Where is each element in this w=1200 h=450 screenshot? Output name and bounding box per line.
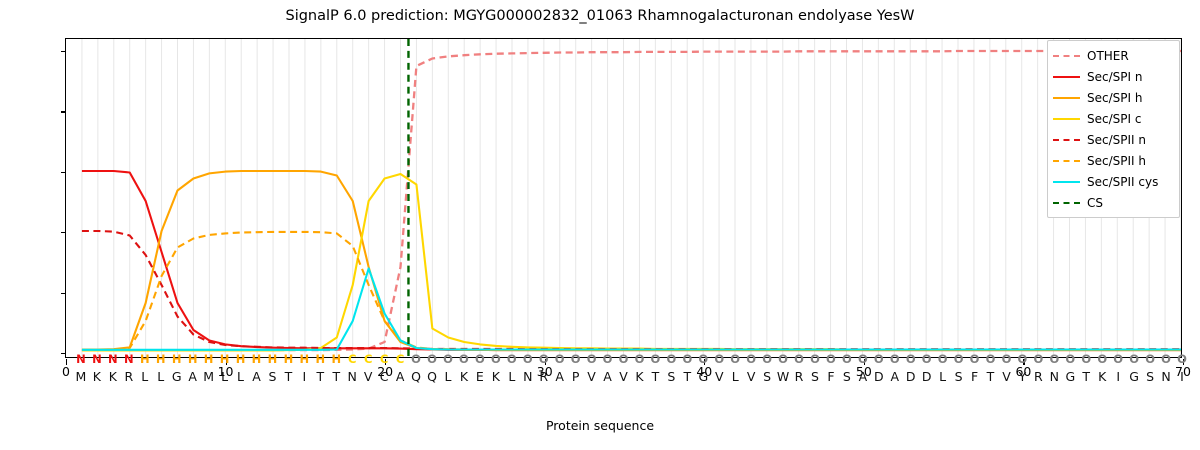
sequence-residue: N <box>348 369 357 384</box>
legend-item-cs[interactable]: CS <box>1053 192 1174 213</box>
region-annotation-cell: O <box>1049 352 1059 366</box>
region-annotation-cell: N <box>92 352 102 366</box>
region-annotation-cell: H <box>204 352 214 366</box>
sequence-residue: L <box>237 369 244 384</box>
region-annotation-cell: O <box>1145 352 1155 366</box>
legend-swatch-sec-spii-n <box>1053 135 1080 145</box>
sequence-residue: T <box>652 369 660 384</box>
sequence-residue: L <box>732 369 739 384</box>
sequence-residue: K <box>635 369 643 384</box>
sequence-residue: S <box>811 369 819 384</box>
sequence-residue: W <box>777 369 789 384</box>
legend-swatch-sec-spii-cys <box>1053 177 1080 187</box>
legend-swatch-other <box>1053 51 1080 61</box>
sequence-residue: F <box>971 369 978 384</box>
region-annotation-cell: H <box>268 352 278 366</box>
region-annotation-cell: O <box>922 352 932 366</box>
sequence-residue: Y <box>1019 369 1027 384</box>
region-annotation-cell: O <box>1129 352 1139 366</box>
sequence-residue: L <box>221 369 228 384</box>
legend-swatch-sec-spii-h <box>1053 156 1080 166</box>
sequence-residue: L <box>444 369 451 384</box>
series-other <box>82 51 1181 350</box>
sequence-residue: M <box>203 369 214 384</box>
region-annotation-cell: H <box>156 352 166 366</box>
sequence-residue: G <box>172 369 182 384</box>
sequence-residue: D <box>922 369 932 384</box>
region-annotation-cell: O <box>858 352 868 366</box>
region-annotation-cell: O <box>682 352 692 366</box>
region-annotation-cell: O <box>491 352 501 366</box>
legend-label-sec-spii-h: Sec/SPII h <box>1087 154 1146 168</box>
protein-sequence-row: MKKRLLGAMLLASTITTNVCAQQLKEKLNRAPVAVKTSTG… <box>65 369 1182 384</box>
region-annotation-cell: O <box>507 352 517 366</box>
sequence-residue: V <box>364 369 373 384</box>
signalp-prediction-figure: SignalP 6.0 prediction: MGYG000002832_01… <box>0 0 1200 450</box>
series-sec-spii-n <box>82 231 1181 349</box>
region-annotation-cell: O <box>938 352 948 366</box>
region-annotation-cell: C <box>396 352 404 366</box>
region-annotation-cell: O <box>475 352 485 366</box>
sequence-residue: A <box>555 369 564 384</box>
series-sec-spii-h <box>82 232 1181 350</box>
region-annotation-cell: O <box>890 352 900 366</box>
sequence-residue: C <box>380 369 389 384</box>
sequence-residue: T <box>987 369 995 384</box>
region-annotation-cell: O <box>1018 352 1028 366</box>
legend-label-sec-spi-c: Sec/SPI c <box>1087 112 1141 126</box>
legend-item-sec-spi-n[interactable]: Sec/SPI n <box>1053 66 1174 87</box>
series-sec-spi-h <box>82 171 1181 350</box>
region-annotation-cell: H <box>220 352 230 366</box>
sequence-residue: M <box>76 369 87 384</box>
sequence-residue: I <box>1180 369 1184 384</box>
region-annotation-cell: O <box>411 352 421 366</box>
sequence-residue: S <box>763 369 771 384</box>
sequence-residue: V <box>747 369 756 384</box>
region-annotation-cell: N <box>76 352 86 366</box>
region-annotation-cell: O <box>635 352 645 366</box>
legend-item-sec-spi-h[interactable]: Sec/SPI h <box>1053 87 1174 108</box>
legend-label-sec-spi-n: Sec/SPI n <box>1087 70 1142 84</box>
legend-label-cs: CS <box>1087 196 1103 210</box>
y-tick-mark <box>61 172 67 173</box>
legend-item-other[interactable]: OTHER <box>1053 45 1174 66</box>
legend-item-sec-spii-n[interactable]: Sec/SPII n <box>1053 129 1174 150</box>
sequence-residue: T <box>1082 369 1090 384</box>
series-sec-spi-c <box>82 174 1181 350</box>
sequence-residue: G <box>698 369 708 384</box>
legend-swatch-cs <box>1053 198 1080 208</box>
region-annotation-cell: O <box>1002 352 1012 366</box>
sequence-residue: T <box>684 369 692 384</box>
legend[interactable]: OTHER Sec/SPI n Sec/SPI h Sec/SPI c Sec/… <box>1047 40 1180 218</box>
legend-label-sec-spii-cys: Sec/SPII cys <box>1087 175 1158 189</box>
region-annotation-cell: C <box>364 352 372 366</box>
region-annotation-cell: O <box>587 352 597 366</box>
region-annotation-cell: O <box>842 352 852 366</box>
sequence-residue: A <box>188 369 197 384</box>
sequence-residue: V <box>1002 369 1011 384</box>
y-tick-mark <box>61 51 67 52</box>
series-curves <box>66 39 1181 357</box>
sequence-residue: E <box>476 369 484 384</box>
region-annotation-cell: O <box>539 352 549 366</box>
region-annotation-cell: O <box>698 352 708 366</box>
sequence-residue: R <box>1034 369 1043 384</box>
region-annotation-cell: O <box>555 352 565 366</box>
region-annotation-row: NNNNHHHHHHHHHHHHHCCCCOOOOOOOOOOOOOOOOOOO… <box>65 352 1182 367</box>
sequence-residue: I <box>303 369 307 384</box>
plot-area: 0.00.20.40.60.81.0 010203040506070 <box>65 38 1182 358</box>
sequence-residue: S <box>667 369 675 384</box>
sequence-residue: T <box>285 369 293 384</box>
sequence-residue: I <box>1116 369 1120 384</box>
sequence-residue: A <box>396 369 405 384</box>
sequence-residue: T <box>316 369 324 384</box>
region-annotation-cell: O <box>810 352 820 366</box>
sequence-residue: S <box>955 369 963 384</box>
legend-swatch-sec-spi-c <box>1053 114 1080 124</box>
sequence-residue: L <box>939 369 946 384</box>
region-annotation-cell: O <box>1033 352 1043 366</box>
sequence-residue: N <box>523 369 532 384</box>
sequence-residue: K <box>492 369 500 384</box>
region-annotation-cell: O <box>571 352 581 366</box>
sequence-residue: K <box>109 369 117 384</box>
sequence-residue: Q <box>427 369 437 384</box>
legend-swatch-sec-spi-n <box>1053 72 1080 82</box>
region-annotation-cell: O <box>443 352 453 366</box>
region-annotation-cell: O <box>523 352 533 366</box>
legend-swatch-sec-spi-h <box>1053 93 1080 103</box>
region-annotation-cell: H <box>300 352 310 366</box>
region-annotation-cell: O <box>746 352 756 366</box>
sequence-residue: N <box>1050 369 1059 384</box>
region-annotation-cell: H <box>316 352 326 366</box>
region-annotation-cell: C <box>348 352 356 366</box>
region-annotation-cell: H <box>140 352 150 366</box>
sequence-residue: L <box>141 369 148 384</box>
sequence-residue: A <box>890 369 899 384</box>
sequence-residue: V <box>619 369 628 384</box>
sequence-residue: S <box>1146 369 1154 384</box>
region-annotation-cell: O <box>666 352 676 366</box>
region-annotation-cell: O <box>954 352 964 366</box>
series-sec-spii-cys <box>82 269 1181 350</box>
region-annotation-cell: O <box>1177 352 1187 366</box>
region-annotation-cell: O <box>619 352 629 366</box>
y-tick-mark <box>61 111 67 112</box>
sequence-residue: D <box>906 369 916 384</box>
sequence-residue: P <box>572 369 580 384</box>
region-annotation-cell: N <box>108 352 118 366</box>
region-annotation-cell: O <box>730 352 740 366</box>
legend-item-sec-spii-h[interactable]: Sec/SPII h <box>1053 150 1174 171</box>
y-tick-mark <box>61 232 67 233</box>
legend-item-sec-spii-cys[interactable]: Sec/SPII cys <box>1053 171 1174 192</box>
region-annotation-cell: H <box>188 352 198 366</box>
region-annotation-cell: H <box>331 352 341 366</box>
sequence-residue: K <box>460 369 468 384</box>
sequence-residue: N <box>1161 369 1170 384</box>
region-annotation-cell: H <box>252 352 262 366</box>
sequence-residue: R <box>795 369 804 384</box>
chart-title: SignalP 6.0 prediction: MGYG000002832_01… <box>0 8 1200 24</box>
legend-item-sec-spi-c[interactable]: Sec/SPI c <box>1053 108 1174 129</box>
sequence-residue: S <box>268 369 276 384</box>
sequence-residue: G <box>1129 369 1139 384</box>
sequence-residue: R <box>539 369 548 384</box>
sequence-residue: K <box>93 369 101 384</box>
legend-label-other: OTHER <box>1087 49 1129 63</box>
region-annotation-cell: O <box>794 352 804 366</box>
legend-label-sec-spi-h: Sec/SPI h <box>1087 91 1142 105</box>
region-annotation-cell: H <box>172 352 182 366</box>
region-annotation-cell: O <box>762 352 772 366</box>
region-annotation-cell: O <box>1065 352 1075 366</box>
region-annotation-cell: O <box>1081 352 1091 366</box>
region-annotation-cell: O <box>826 352 836 366</box>
sequence-residue: V <box>715 369 724 384</box>
series-sec-spi-n <box>82 171 1181 350</box>
sequence-residue: A <box>252 369 261 384</box>
region-annotation-cell: O <box>986 352 996 366</box>
region-annotation-cell: C <box>380 352 388 366</box>
region-annotation-cell: O <box>1113 352 1123 366</box>
region-annotation-cell: O <box>427 352 437 366</box>
sequence-residue: Q <box>411 369 421 384</box>
y-tick-mark <box>61 293 67 294</box>
region-annotation-cell: H <box>236 352 246 366</box>
region-annotation-cell: O <box>778 352 788 366</box>
region-annotation-cell: O <box>1097 352 1107 366</box>
sequence-residue: V <box>587 369 596 384</box>
sequence-residue: A <box>859 369 868 384</box>
region-annotation-cell: N <box>124 352 134 366</box>
region-annotation-cell: O <box>906 352 916 366</box>
x-axis-label: Protein sequence <box>0 418 1200 433</box>
region-annotation-cell: H <box>284 352 294 366</box>
region-annotation-cell: O <box>651 352 661 366</box>
region-annotation-cell: O <box>714 352 724 366</box>
region-annotation-cell: O <box>874 352 884 366</box>
sequence-residue: L <box>508 369 515 384</box>
region-annotation-cell: O <box>1161 352 1171 366</box>
sequence-residue: S <box>843 369 851 384</box>
region-annotation-cell: O <box>459 352 469 366</box>
region-annotation-cell: O <box>603 352 613 366</box>
sequence-residue: T <box>332 369 340 384</box>
legend-label-sec-spii-n: Sec/SPII n <box>1087 133 1146 147</box>
sequence-residue: R <box>124 369 133 384</box>
sequence-residue: L <box>157 369 164 384</box>
sequence-residue: F <box>827 369 834 384</box>
sequence-residue: G <box>1065 369 1075 384</box>
region-annotation-cell: O <box>970 352 980 366</box>
sequence-residue: D <box>874 369 884 384</box>
sequence-residue: A <box>603 369 612 384</box>
sequence-residue: K <box>1098 369 1106 384</box>
